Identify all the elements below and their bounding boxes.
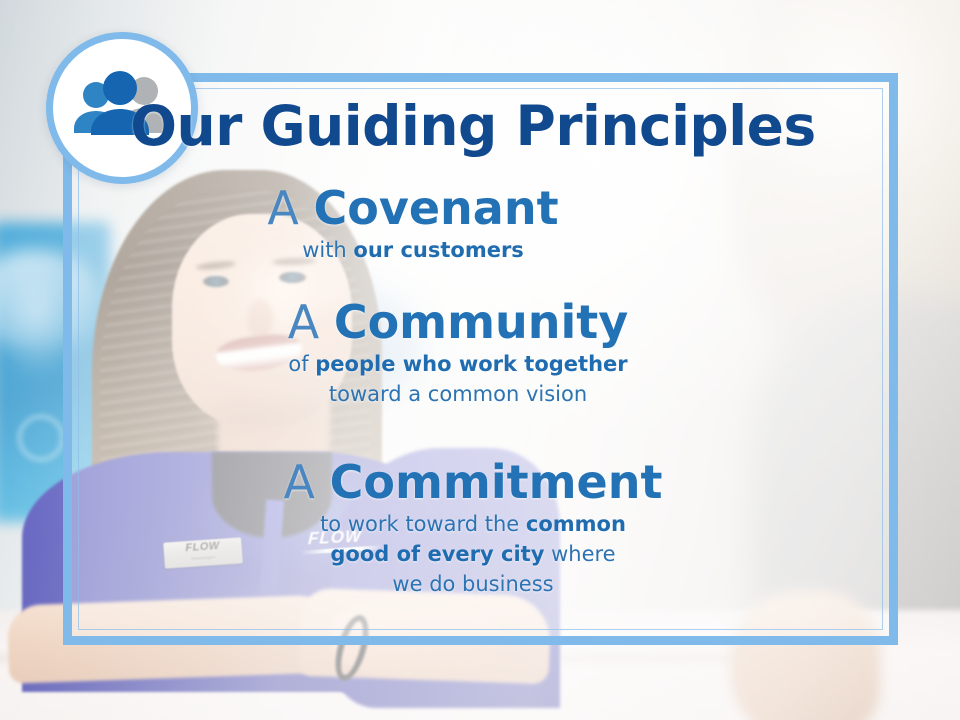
principle-covenant: A Covenant with our customers [63, 181, 763, 265]
principle-community-heading: A Community [63, 295, 853, 349]
page-title: Our Guiding Principles [63, 95, 883, 157]
guiding-principles-poster: FLOW Volkswagen FLOW [0, 0, 960, 720]
principle-commitment-keyword: Commitment [330, 455, 663, 509]
principle-covenant-keyword: Covenant [314, 181, 559, 235]
principle-body-line: of people who work together [63, 349, 853, 379]
principle-covenant-body: with our customers [63, 235, 763, 265]
principle-commitment-article: A [284, 455, 330, 509]
principle-covenant-heading: A Covenant [63, 181, 763, 235]
principle-community-article: A [288, 295, 334, 349]
principle-body-line: with our customers [63, 235, 763, 265]
principle-body-line: to work toward the common [63, 509, 883, 539]
principle-body-line: we do business [63, 569, 883, 599]
principle-body-line: toward a common vision [63, 379, 853, 409]
principle-community-keyword: Community [334, 295, 628, 349]
principle-community-body: of people who work togethertoward a comm… [63, 349, 853, 409]
principle-commitment: A Commitment to work toward the commongo… [63, 455, 883, 599]
principle-commitment-body: to work toward the commongood of every c… [63, 509, 883, 599]
principle-community: A Community of people who work togethert… [63, 295, 853, 409]
principle-body-line: good of every city where [63, 539, 883, 569]
principle-commitment-heading: A Commitment [63, 455, 883, 509]
poster-content: Our Guiding Principles A Covenant with o… [63, 73, 898, 645]
background-vw-logo [18, 415, 64, 461]
principle-covenant-article: A [267, 181, 313, 235]
